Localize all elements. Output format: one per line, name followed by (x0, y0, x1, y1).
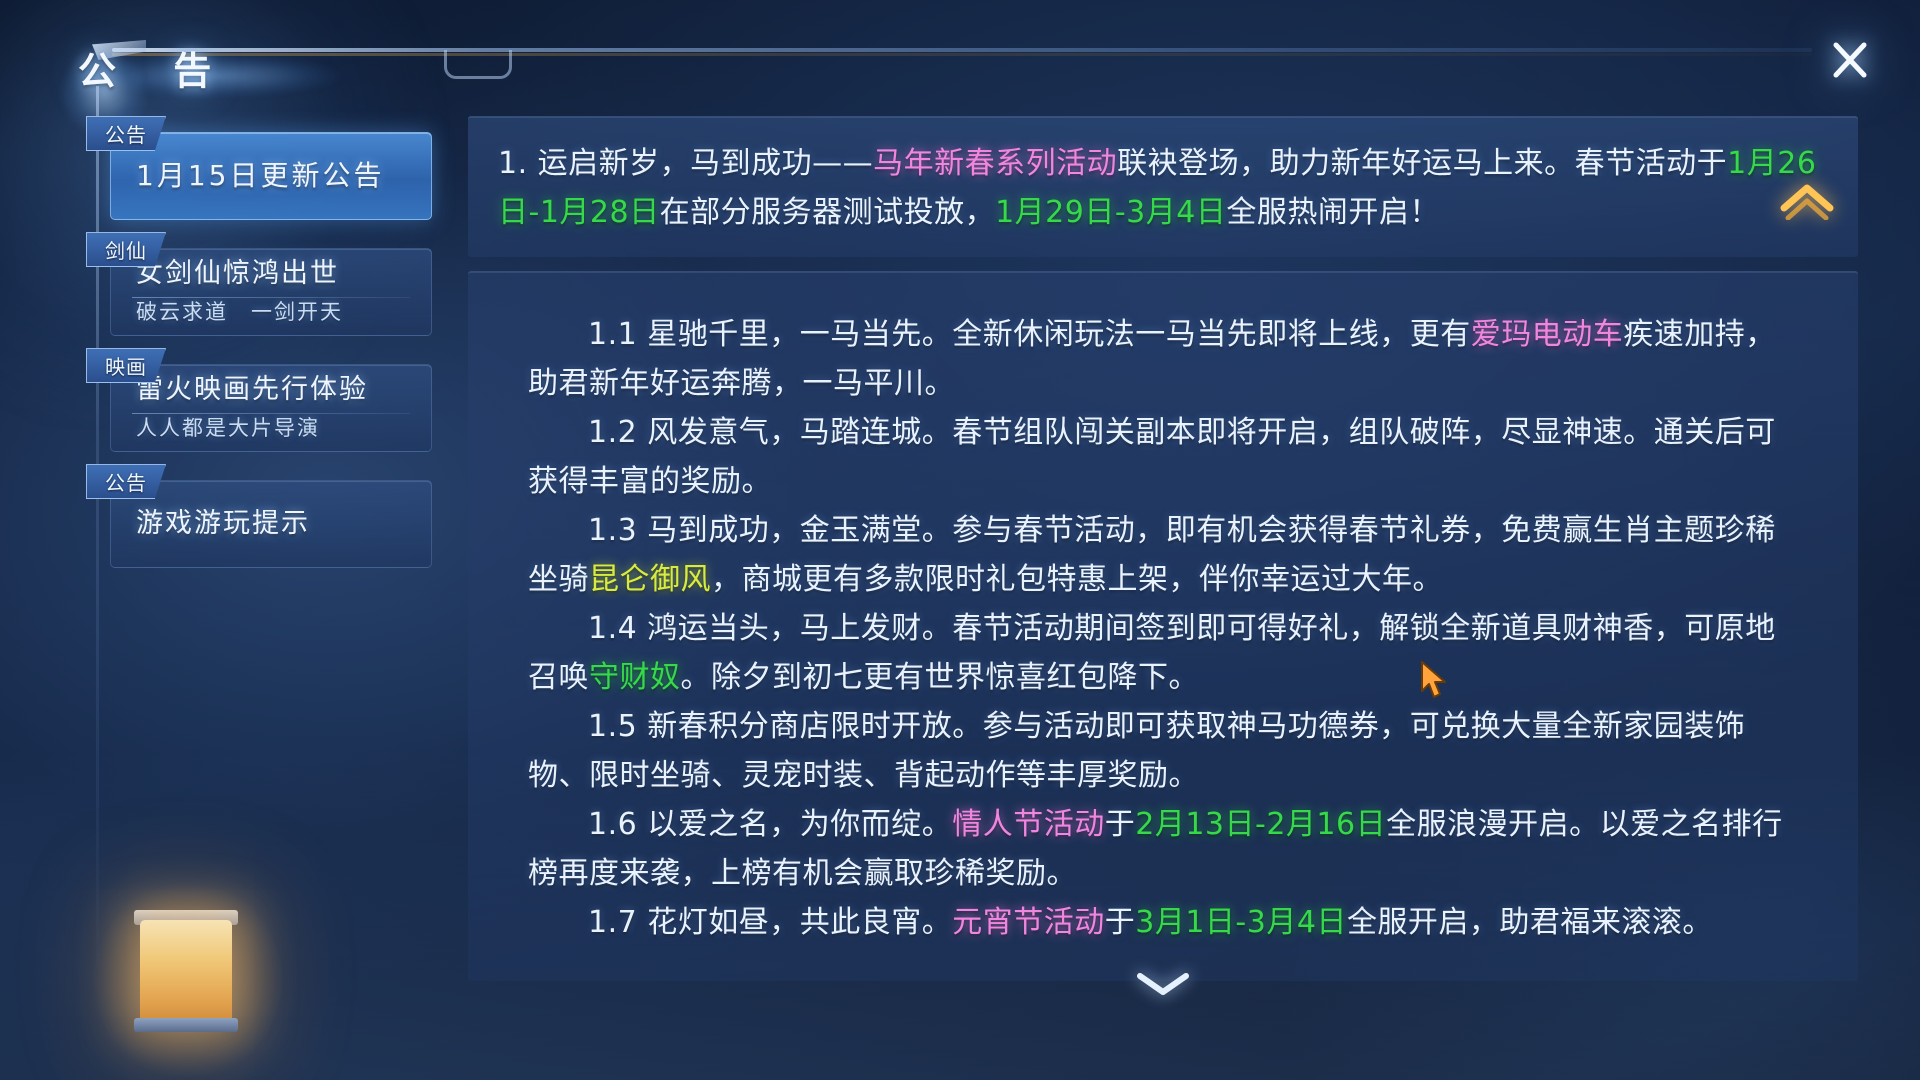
sidebar-item-subtitle: 人人都是大片导演 (136, 412, 418, 442)
sidebar-item-tag: 公告 (86, 464, 166, 499)
sidebar-item-texts: 游戏游玩提示 (136, 480, 418, 568)
text-run: 1.7 花灯如昼，共此良宵。 (588, 905, 952, 940)
announcement-block-item-1-1: 1.1 星驰千里，一马当先。全新休闲玩法一马当先即将上线，更有爱玛电动车疾速加持… (498, 290, 1824, 408)
text-run: ，商城更有多款限时礼包特惠上架，伴你幸运过大年。 (711, 562, 1443, 597)
sidebar-item-texts: 1月15日更新公告 (136, 132, 418, 220)
highlight-run-green: 2月13日-2月16日 (1135, 807, 1386, 842)
announcement-paragraph: 1.1 星驰千里，一马当先。全新休闲玩法一马当先即将上线，更有爱玛电动车疾速加持… (528, 310, 1790, 408)
announcement-block-item-1-6: 1.6 以爱之名，为你而绽。情人节活动于2月13日-2月16日全服浪漫开启。以爱… (498, 800, 1824, 898)
highlight-run-pink: 爱玛电动车 (1471, 317, 1624, 352)
sidebar-item-title: 女剑仙惊鸿出世 (136, 258, 418, 291)
highlight-run-green: 3月1日-3月4日 (1135, 905, 1347, 940)
highlight-run-pink: 马年新春系列活动 (873, 146, 1117, 181)
sidebar-item-title: 雷火映画先行体验 (136, 374, 418, 407)
sidebar-item-texts: 雷火映画先行体验人人都是大片导演 (136, 364, 418, 452)
sidebar-item-tag: 公告 (86, 116, 166, 151)
sidebar-item-3[interactable]: 游戏游玩提示公告 (110, 480, 432, 568)
close-button[interactable] (1822, 32, 1878, 88)
announcement-sidebar: 1月15日更新公告公告女剑仙惊鸿出世破云求道 一剑开天剑仙雷火映画先行体验人人都… (110, 132, 440, 596)
highlight-run-green: 守财奴 (589, 660, 681, 695)
chevron-down-icon[interactable] (1132, 966, 1194, 1000)
announcement-paragraph: 1.5 新春积分商店限时开放。参与活动即可获取神马功德券，可兑换大量全新家园装饰… (528, 702, 1790, 800)
sidebar-item-texts: 女剑仙惊鸿出世破云求道 一剑开天 (136, 248, 418, 336)
lantern-base (134, 1018, 238, 1032)
announcement-content-panel[interactable]: 1. 运启新岁，马到成功——马年新春系列活动联袂登场，助力新年好运马上来。春节活… (468, 116, 1858, 984)
text-run: 全服开启，助君福来滚滚。 (1347, 905, 1713, 940)
sidebar-item-tag: 剑仙 (86, 232, 166, 267)
announcement-block-item-1-5: 1.5 新春积分商店限时开放。参与活动即可获取神马功德券，可兑换大量全新家园装饰… (498, 702, 1824, 800)
announcement-paragraph: 1.6 以爱之名，为你而绽。情人节活动于2月13日-2月16日全服浪漫开启。以爱… (528, 800, 1790, 898)
text-run: 1.1 星驰千里，一马当先。全新休闲玩法一马当先即将上线，更有 (588, 317, 1471, 352)
announcement-paragraph: 1.7 花灯如昼，共此良宵。元宵节活动于3月1日-3月4日全服开启，助君福来滚滚… (528, 898, 1790, 947)
text-run: 。除夕到初七更有世界惊喜红包降下。 (681, 660, 1200, 695)
text-run: 1.6 以爱之名，为你而绽。 (588, 807, 952, 842)
sidebar-item-title: 1月15日更新公告 (136, 159, 418, 193)
announcement-block-item-1-4: 1.4 鸿运当头，马上发财。春节活动期间签到即可得好礼，解锁全新道具财神香，可原… (498, 604, 1824, 702)
text-run: 联袂登场，助力新年好运马上来。春节活动于 (1117, 146, 1727, 181)
announcement-body-surface: 1.1 星驰千里，一马当先。全新休闲玩法一马当先即将上线，更有爱玛电动车疾速加持… (468, 271, 1858, 981)
announcement-block-item-1-7: 1.7 花灯如昼，共此良宵。元宵节活动于3月1日-3月4日全服开启，助君福来滚滚… (498, 898, 1824, 947)
chevron-up-icon[interactable] (1778, 178, 1836, 220)
announcement-block-item-1-2: 1.2 风发意气，马踏连城。春节组队闯关副本即将开启，组队破阵，尽显神速。通关后… (498, 408, 1824, 506)
sidebar-item-1[interactable]: 女剑仙惊鸿出世破云求道 一剑开天剑仙 (110, 248, 432, 336)
highlight-run-pink: 元宵节活动 (952, 905, 1105, 940)
announcement-paragraph: 1.2 风发意气，马踏连城。春节组队闯关副本即将开启，组队破阵，尽显神速。通关后… (528, 408, 1790, 506)
announcement-paragraph: 1.3 马到成功，金玉满堂。参与春节活动，即有机会获得春节礼券，免费赢生肖主题珍… (528, 506, 1790, 604)
sidebar-item-2[interactable]: 雷火映画先行体验人人都是大片导演映画 (110, 364, 432, 452)
sidebar-item-title: 游戏游玩提示 (136, 508, 418, 541)
lantern-body (140, 920, 232, 1024)
sidebar-divider (96, 86, 99, 966)
announcement-paragraph: 1.4 鸿运当头，马上发财。春节活动期间签到即可得好礼，解锁全新道具财神香，可原… (528, 604, 1790, 702)
announcement-paragraph: 1. 运启新岁，马到成功——马年新春系列活动联袂登场，助力新年好运马上来。春节活… (498, 139, 1824, 237)
text-run: 在部分服务器测试投放， (660, 195, 996, 230)
highlight-run-yellow: 昆仑御风 (589, 562, 711, 597)
announcement-block-intro: 1. 运启新岁，马到成功——马年新春系列活动联袂登场，助力新年好运马上来。春节活… (468, 116, 1858, 257)
header-ornament-hook (444, 50, 512, 79)
highlight-run-green: 1月29日-3月4日 (995, 195, 1226, 230)
highlight-run-pink: 情人节活动 (952, 807, 1105, 842)
sidebar-item-tag: 映画 (86, 348, 166, 383)
sidebar-item-subtitle: 破云求道 一剑开天 (136, 296, 418, 326)
page-title: 公 告 (78, 40, 233, 95)
lantern-icon (128, 900, 248, 1050)
text-run: 1. 运启新岁，马到成功—— (498, 146, 873, 181)
text-run: 1.5 新春积分商店限时开放。参与活动即可获取神马功德券，可兑换大量全新家园装饰… (528, 709, 1745, 793)
sidebar-item-0[interactable]: 1月15日更新公告公告 (110, 132, 432, 220)
text-run: 于 (1105, 807, 1136, 842)
announcement-block-item-1-3: 1.3 马到成功，金玉满堂。参与春节活动，即有机会获得春节礼券，免费赢生肖主题珍… (498, 506, 1824, 604)
text-run: 于 (1105, 905, 1136, 940)
text-run: 1.2 风发意气，马踏连城。春节组队闯关副本即将开启，组队破阵，尽显神速。通关后… (528, 415, 1776, 499)
text-run: 全服热闹开启！ (1226, 195, 1440, 230)
